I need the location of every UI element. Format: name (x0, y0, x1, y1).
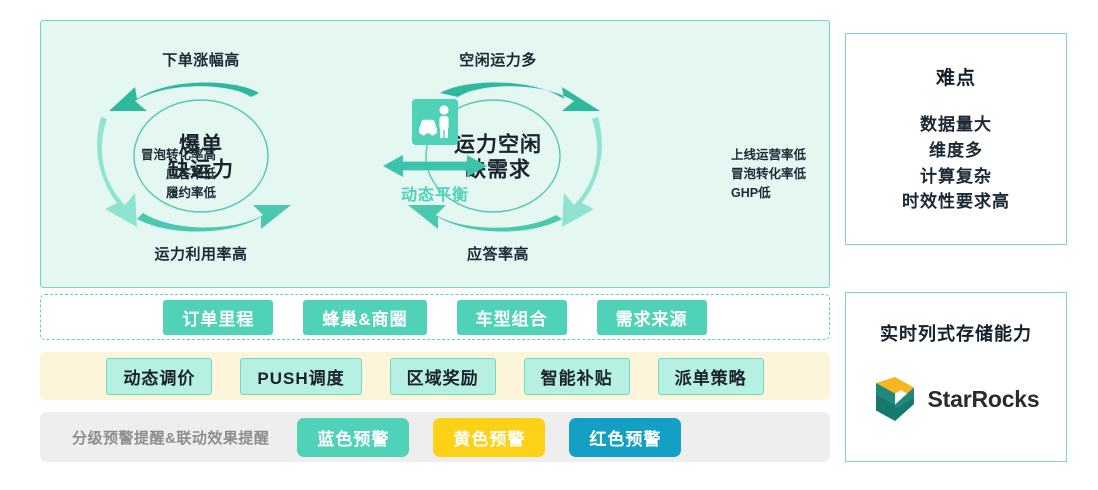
alert-row-label: 分级预警提醒&联动效果提醒 (72, 427, 269, 448)
dimension-tag[interactable]: 车型组合 (457, 300, 567, 335)
left-cycle-top-label: 下单涨幅高 (51, 49, 351, 70)
difficulty-card-title: 难点 (846, 63, 1066, 90)
strategy-tag[interactable]: PUSH调度 (240, 358, 361, 395)
difficulty-card: 难点 数据量大 维度多 计算复杂 时效性要求高 (845, 33, 1067, 245)
strategy-tag[interactable]: 区域奖励 (390, 358, 496, 395)
starrocks-logo-group: StarRocks (846, 376, 1066, 422)
storage-card-title: 实时列式存储能力 (846, 320, 1066, 346)
alert-pill-group: 蓝色预警黄色预警红色预警 (297, 418, 681, 457)
alert-pill[interactable]: 黄色预警 (433, 418, 545, 457)
starrocks-logo-text: StarRocks (928, 386, 1040, 413)
right-cycle-top-label: 空闲运力多 (348, 49, 648, 70)
balance-group: 动态平衡 (375, 99, 495, 205)
storage-card: 实时列式存储能力 StarRocks (845, 292, 1067, 462)
alert-pill[interactable]: 红色预警 (569, 418, 681, 457)
left-cycle-bottom-label: 运力利用率高 (51, 243, 351, 264)
strategy-tag[interactable]: 动态调价 (106, 358, 212, 395)
right-cycle-bottom-label: 应答率高 (348, 243, 648, 264)
car-person-icon (412, 99, 458, 145)
dimension-tag[interactable]: 需求来源 (597, 300, 707, 335)
dimension-tag[interactable]: 订单里程 (163, 300, 273, 335)
double-arrow-horizontal-icon (383, 153, 487, 179)
alert-pill[interactable]: 蓝色预警 (297, 418, 409, 457)
dimension-tag[interactable]: 蜂巢&商圈 (303, 300, 426, 335)
main-diagram-panel: 下单涨幅高 爆单 缺运力 运力利用率高 空闲运力多 (40, 20, 830, 288)
starrocks-logo-icon (873, 376, 917, 422)
strategy-row: 动态调价PUSH调度区域奖励智能补贴派单策略 (40, 352, 830, 400)
strategy-tag[interactable]: 派单策略 (658, 358, 764, 395)
alert-row: 分级预警提醒&联动效果提醒 蓝色预警黄色预警红色预警 (40, 412, 830, 462)
diagram-root: 下单涨幅高 爆单 缺运力 运力利用率高 空闲运力多 (0, 0, 1098, 490)
dimension-row: 订单里程蜂巢&商圈车型组合需求来源 (40, 294, 830, 340)
balance-label: 动态平衡 (375, 181, 495, 205)
strategy-tag[interactable]: 智能补贴 (524, 358, 630, 395)
difficulty-card-lines: 数据量大 维度多 计算复杂 时效性要求高 (846, 112, 1066, 215)
left-side-note: 冒泡转化率高 应答率低 履约率低 (61, 146, 216, 203)
